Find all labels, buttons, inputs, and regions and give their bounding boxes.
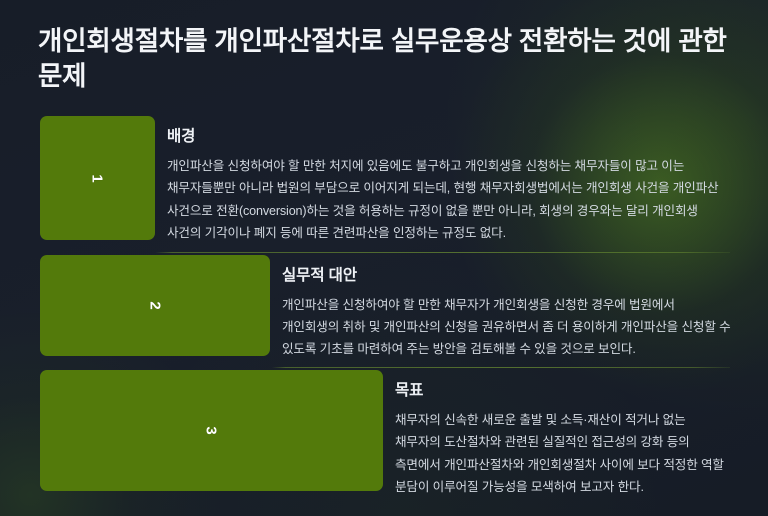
- section-number-2: 2: [148, 301, 163, 309]
- section-heading-1: 배경: [167, 124, 732, 146]
- section-divider-1: [155, 252, 730, 253]
- slide-root: 개인회생절차를 개인파산절차로 실무운용상 전환하는 것에 관한 문제 1 배경…: [0, 0, 768, 516]
- section-heading-2: 실무적 대안: [282, 263, 732, 285]
- section-body-1: 개인파산을 신청하여야 할 만한 처지에 있음에도 불구하고 개인회생을 신청하…: [167, 155, 732, 245]
- title-container: 개인회생절차를 개인파산절차로 실무운용상 전환하는 것에 관한 문제: [38, 24, 738, 94]
- section-content-2: 실무적 대안 개인파산을 신청하여야 할 만한 채무자가 개인회생을 신청한 경…: [270, 255, 768, 361]
- section-number-box-1: 1: [40, 116, 155, 240]
- section-row-3: 3 목표 채무자의 신속한 새로운 출발 및 소득·재산이 적거나 없는 채무자…: [0, 370, 768, 499]
- page-title: 개인회생절차를 개인파산절차로 실무운용상 전환하는 것에 관한 문제: [38, 24, 738, 94]
- section-number-box-3: 3: [40, 370, 383, 491]
- sections-list: 1 배경 개인파산을 신청하여야 할 만한 처지에 있음에도 불구하고 개인회생…: [0, 116, 768, 498]
- section-content-1: 배경 개인파산을 신청하여야 할 만한 처지에 있음에도 불구하고 개인회생을 …: [155, 116, 768, 245]
- section-body-2: 개인파산을 신청하여야 할 만한 채무자가 개인회생을 신청한 경우에 법원에서…: [282, 294, 732, 361]
- section-divider-2: [272, 367, 730, 368]
- section-number-3: 3: [204, 426, 219, 434]
- section-number-box-2: 2: [40, 255, 270, 356]
- section-body-3: 채무자의 신속한 새로운 출발 및 소득·재산이 적거나 없는 채무자의 도산절…: [395, 409, 732, 499]
- section-content-3: 목표 채무자의 신속한 새로운 출발 및 소득·재산이 적거나 없는 채무자의 …: [383, 370, 768, 499]
- section-number-1: 1: [90, 174, 105, 182]
- section-heading-3: 목표: [395, 378, 732, 400]
- section-row-1: 1 배경 개인파산을 신청하여야 할 만한 처지에 있음에도 불구하고 개인회생…: [0, 116, 768, 245]
- section-row-2: 2 실무적 대안 개인파산을 신청하여야 할 만한 채무자가 개인회생을 신청한…: [0, 255, 768, 361]
